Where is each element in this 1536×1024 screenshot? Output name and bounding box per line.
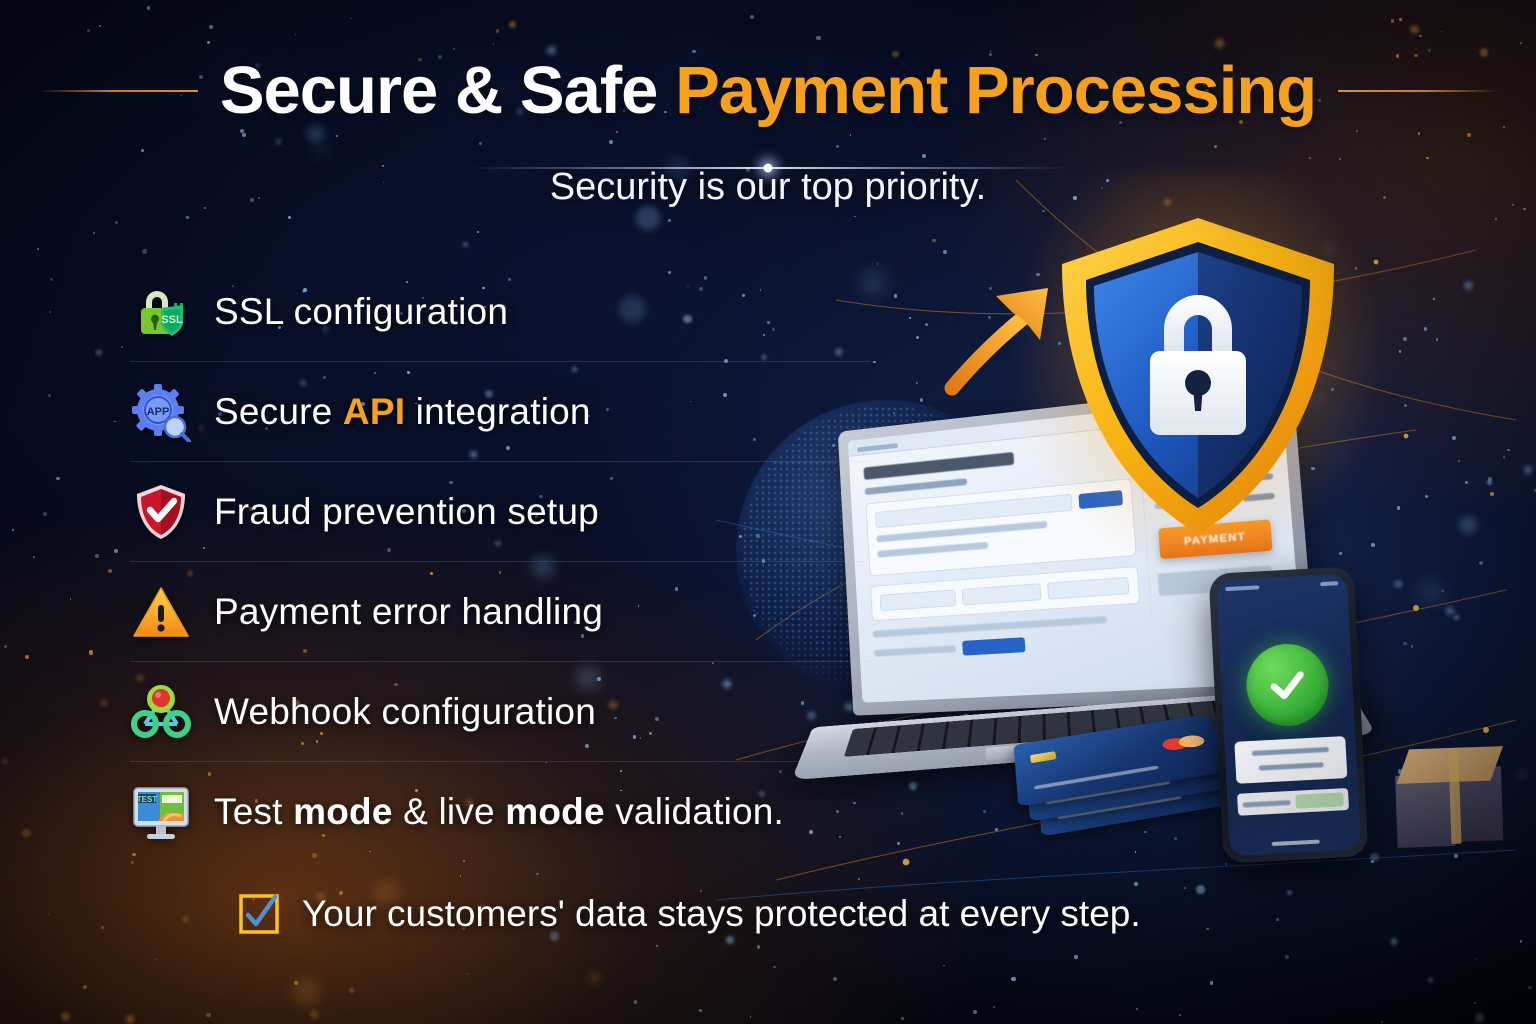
svg-text:APP: APP <box>147 406 170 418</box>
title-rule-right <box>1338 90 1498 92</box>
list-item[interactable]: Webhook configuration <box>130 662 870 762</box>
warning-triangle-icon <box>130 581 192 643</box>
feature-label: Webhook configuration <box>214 691 596 733</box>
list-item[interactable]: SSL SSL configuration <box>130 262 870 362</box>
svg-text:SSL: SSL <box>161 314 183 326</box>
footer-text: Your customers' data stays protected at … <box>302 893 1141 935</box>
header-block: Secure & Safe Payment Processing <box>0 56 1536 126</box>
feature-list: SSL SSL configuration <box>130 262 870 861</box>
feature-label: Fraud prevention setup <box>214 491 599 533</box>
checkbox-checked-icon <box>238 893 280 935</box>
infographic-canvas: PAYMENT <box>0 0 1536 1024</box>
feature-label: SSL configuration <box>214 291 508 333</box>
list-item[interactable]: Fraud prevention setup <box>130 462 870 562</box>
test-monitor-icon: TEST <box>130 781 192 843</box>
feature-label: Secure API integration <box>214 391 591 433</box>
page-title-white: Secure & Safe <box>220 53 675 128</box>
svg-text:TEST: TEST <box>137 795 158 804</box>
ssl-lock-shield-icon: SSL <box>130 281 192 343</box>
footer-note: Your customers' data stays protected at … <box>238 893 1141 935</box>
list-item[interactable]: Payment error handling <box>130 562 870 662</box>
page-subtitle: Security is our top priority. <box>0 166 1536 209</box>
list-item[interactable]: APP Secure API integration <box>130 362 870 462</box>
page-title-accent: Payment Processing <box>675 53 1316 128</box>
api-gear-icon: APP <box>130 381 192 443</box>
fraud-shield-check-icon <box>130 481 192 543</box>
title-rule-left <box>38 90 198 92</box>
webhook-nodes-icon <box>130 681 192 743</box>
feature-label: Test mode & live mode validation. <box>214 791 784 833</box>
list-item[interactable]: TEST Test mode & live mode validation. <box>130 762 870 861</box>
feature-label: Payment error handling <box>214 591 603 633</box>
page-title: Secure & Safe Payment Processing <box>198 56 1338 126</box>
